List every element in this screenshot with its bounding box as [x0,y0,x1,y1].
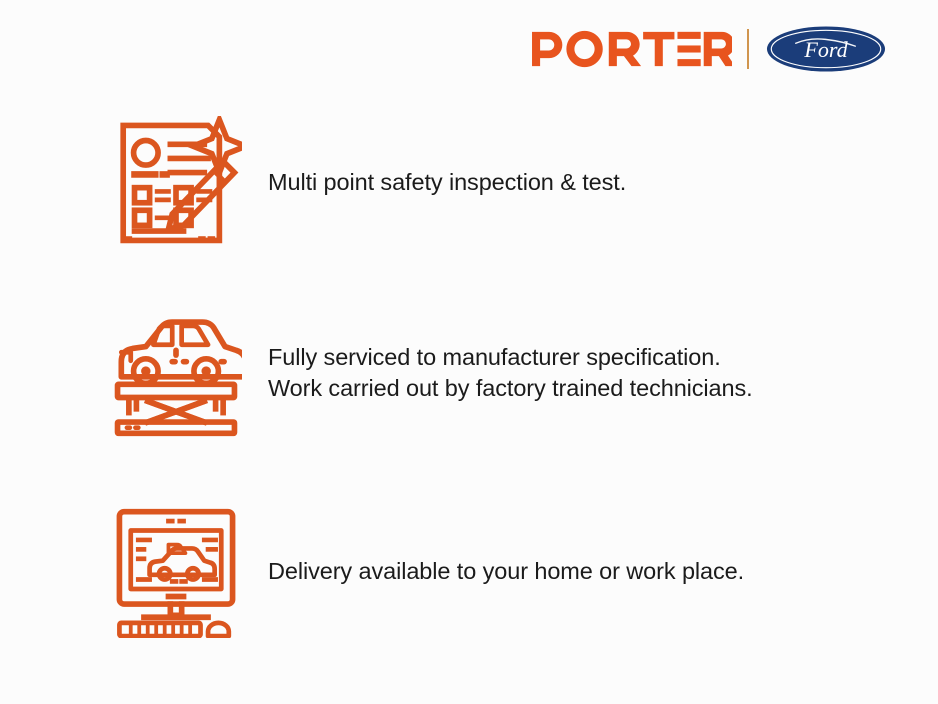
feature-list: Multi point safety inspection & test. [110,112,900,649]
feature-text: Fully serviced to manufacturer specifica… [268,342,753,403]
brand-divider [747,29,749,69]
porter-logo [530,30,732,68]
feature-text: Delivery available to your home or work … [268,556,744,587]
feature-row: Multi point safety inspection & test. [110,112,900,252]
feature-text: Multi point safety inspection & test. [268,167,626,198]
desktop-computer-car-icon [110,498,250,646]
feature-row: Delivery available to your home or work … [110,494,900,649]
ford-logo: Ford [766,25,886,73]
clipboard-checklist-pencil-icon [110,108,250,256]
feature-row: Fully serviced to manufacturer specifica… [110,298,900,448]
brand-bar: Ford [530,24,886,74]
promo-page: Ford [0,0,938,704]
svg-text:Ford: Ford [803,37,848,62]
car-on-scissor-lift-icon [110,299,250,447]
